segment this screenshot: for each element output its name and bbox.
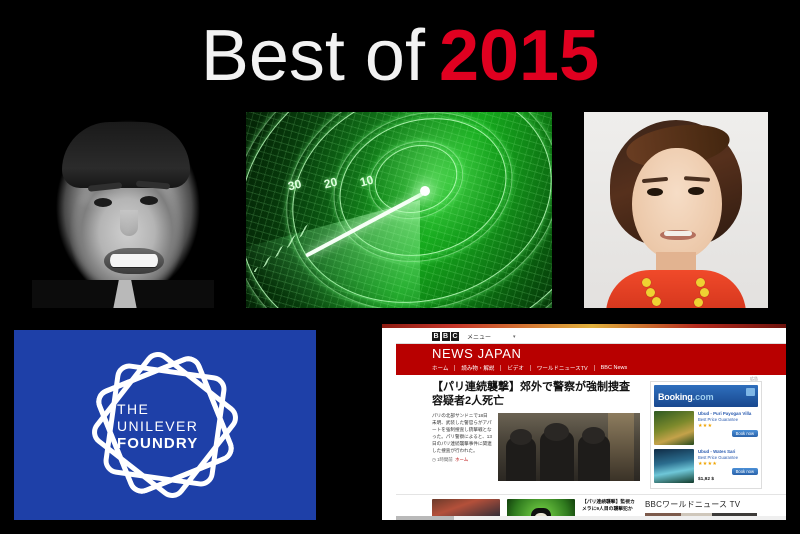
ad-label: 広告	[750, 376, 758, 382]
unilever-foundry-logo-icon: THE UNILEVER FOUNDRY	[86, 346, 244, 504]
lead-story[interactable]: 【パリ連続襲撃】郊外で警察が強制捜査 容疑者2人死亡 パリの北部サンドニで18日…	[432, 381, 642, 489]
police-raid-photo	[498, 413, 640, 481]
listing-info: Ubud - Wates Sari Best Price Guarantee ★…	[698, 449, 758, 485]
bbc-logo-letter: B	[442, 332, 450, 341]
eye-right	[688, 187, 704, 195]
nav-item-features[interactable]: 読み物・解説	[461, 364, 494, 372]
necklace-bead	[642, 278, 651, 287]
teeth-shape	[110, 254, 158, 267]
hair-shape	[62, 122, 190, 188]
radar-image: 30 20 10	[246, 112, 552, 308]
ad-listing[interactable]: Ubud - Wates Sari Best Price Guarantee ★…	[654, 449, 758, 485]
logo-line-foundry: FOUNDRY	[117, 435, 213, 453]
portrait-woman-image	[584, 112, 768, 308]
lead-story-standfirst: パリの北部サンドニで18日未明、武装した警官らがアパートを強制捜査し銃撃戦となっ…	[432, 413, 492, 454]
nav-divider	[530, 365, 531, 371]
listing-star-rating: ★★★★	[698, 462, 758, 468]
listing-star-rating: ★★★	[698, 424, 758, 430]
logo-wordmark: THE UNILEVER FOUNDRY	[117, 401, 213, 453]
page-top-photo-strip	[382, 324, 786, 328]
necklace-bead	[696, 278, 705, 287]
helmet-shape	[510, 429, 532, 445]
unilever-foundry-tile[interactable]: THE UNILEVER FOUNDRY	[14, 330, 316, 520]
title-text-plain: Best of	[201, 20, 425, 92]
world-news-tv-heading: BBCワールドニュース TV	[645, 499, 757, 510]
booking-brand-tld: .com	[693, 392, 714, 402]
section-tag[interactable]: ホーム	[455, 457, 468, 462]
bbc-logo-letter: C	[451, 332, 459, 341]
red-top-shape	[606, 270, 746, 308]
portrait-woman-tile[interactable]	[584, 112, 768, 308]
horizontal-scrollbar[interactable]	[396, 516, 786, 520]
bbc-page: B B C メニュー ▾ NEWS JAPAN ホーム 読み物・解説 ビデオ ワ…	[396, 330, 786, 520]
lead-story-photo	[498, 413, 640, 481]
nav-item-home[interactable]: ホーム	[432, 364, 448, 372]
necklace-bead	[694, 298, 703, 307]
nav-item-bbc-news[interactable]: BBC News	[601, 365, 628, 371]
logo-line-unilever: UNILEVER	[117, 418, 213, 435]
lead-story-headline[interactable]: 【パリ連続襲撃】郊外で警察が強制捜査 容疑者2人死亡	[432, 381, 642, 408]
lead-story-meta: ◷ 1時間前 ホーム	[432, 457, 492, 463]
radar-screen-tile[interactable]: 30 20 10	[246, 112, 552, 308]
nav-divider	[500, 365, 501, 371]
nav-item-world-news-tv[interactable]: ワールドニュースTV	[537, 364, 588, 372]
bbc-logo-icon[interactable]: B B C	[432, 332, 459, 341]
radar-center-blip	[420, 186, 430, 196]
portrait-man-tile[interactable]	[32, 112, 214, 308]
nose-shape	[120, 210, 138, 236]
nav-item-video[interactable]: ビデオ	[507, 364, 524, 372]
listing-info: Ubud - Puri Payogan Villa Best Price Gua…	[698, 411, 758, 445]
necklace-bead	[700, 288, 709, 297]
bbc-brand-bar: NEWS JAPAN	[396, 344, 786, 361]
listing-thumbnail	[654, 449, 694, 483]
collage-canvas: Best of 2015	[0, 0, 800, 534]
scrollbar-thumb[interactable]	[396, 516, 454, 520]
clock-icon: ◷	[432, 457, 436, 462]
ad-listing[interactable]: Ubud - Puri Payogan Villa Best Price Gua…	[654, 411, 758, 445]
bbc-content: 【パリ連続襲撃】郊外で警察が強制捜査 容疑者2人死亡 パリの北部サンドニで18日…	[396, 375, 786, 489]
bbc-global-bar: B B C メニュー ▾	[396, 330, 786, 344]
chevron-down-icon[interactable]: ▾	[513, 334, 516, 340]
title-text-year: 2015	[439, 20, 599, 92]
booking-brand-banner[interactable]: Booking.com	[654, 385, 758, 407]
menu-button[interactable]: メニュー	[467, 332, 491, 341]
bbc-logo-letter: B	[432, 332, 440, 341]
nav-divider	[454, 365, 455, 371]
nav-divider	[594, 365, 595, 371]
logo-line-the: THE	[117, 401, 213, 418]
booking-brand-name: Booking	[658, 392, 693, 402]
helmet-shape	[544, 423, 569, 441]
eye-left	[94, 198, 112, 207]
bbc-nav: ホーム 読み物・解説 ビデオ ワールドニュースTV BBC News	[396, 361, 786, 375]
lead-story-body: パリの北部サンドニで18日未明、武装した警官らがアパートを強制捜査し銃撃戦となっ…	[432, 413, 642, 481]
bbc-news-japan-tile[interactable]: B B C メニュー ▾ NEWS JAPAN ホーム 読み物・解説 ビデオ ワ…	[382, 324, 786, 520]
book-now-button[interactable]: Book now	[732, 430, 758, 437]
face-shape	[632, 148, 722, 260]
timestamp: 1時間前	[437, 457, 453, 462]
book-now-button[interactable]: Book now	[732, 468, 758, 475]
advertisement-panel[interactable]: 広告 Booking.com Ubud - Puri Payogan Villa…	[650, 381, 762, 489]
page-title: Best of 2015	[0, 6, 800, 106]
eye-left	[647, 188, 663, 196]
helmet-shape	[582, 427, 605, 444]
bbc-brand-title[interactable]: NEWS JAPAN	[432, 347, 786, 361]
teeth-shape	[664, 231, 692, 236]
necklace-bead	[652, 297, 661, 306]
eye-right	[140, 196, 158, 205]
listing-thumbnail	[654, 411, 694, 445]
necklace-bead	[646, 288, 655, 297]
listing-price: $1,92 $	[698, 477, 714, 482]
photo-door-shape	[608, 413, 634, 481]
booking-logo-icon	[746, 388, 755, 396]
portrait-man-image	[32, 112, 214, 308]
